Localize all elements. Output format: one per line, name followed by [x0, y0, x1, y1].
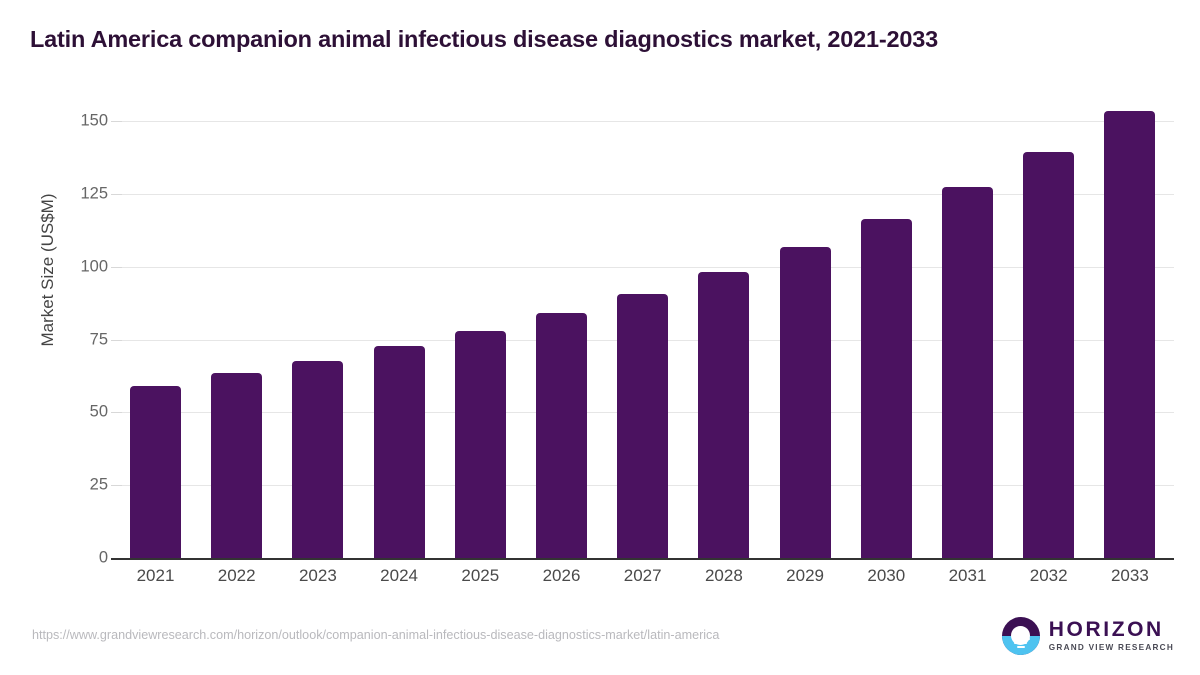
logo-ray-1: [1012, 638, 1030, 640]
bar-2025[interactable]: [455, 331, 506, 558]
x-tick-label-2031: 2031: [949, 566, 987, 586]
bar-2027[interactable]: [617, 294, 668, 558]
bar-2024[interactable]: [374, 346, 425, 558]
bar-2022[interactable]: [211, 373, 262, 558]
x-tick-label-2021: 2021: [137, 566, 175, 586]
x-tick-label-2028: 2028: [705, 566, 743, 586]
bar-2028[interactable]: [698, 272, 749, 558]
x-tick-label-2022: 2022: [218, 566, 256, 586]
logo-subtitle: GRAND VIEW RESEARCH: [1049, 644, 1174, 652]
horizon-sun-icon: [1002, 617, 1040, 655]
bar-2026[interactable]: [536, 313, 587, 558]
chart-card: Latin America companion animal infectiou…: [0, 0, 1200, 675]
x-tick-label-2032: 2032: [1030, 566, 1068, 586]
bar-series: [0, 0, 1200, 675]
logo-wordmark: HORIZON: [1049, 619, 1174, 640]
x-tick-label-2023: 2023: [299, 566, 337, 586]
horizon-logo: HORIZON GRAND VIEW RESEARCH: [1002, 617, 1174, 655]
source-url[interactable]: https://www.grandviewresearch.com/horizo…: [32, 628, 719, 642]
bar-2021[interactable]: [130, 386, 181, 558]
bar-2029[interactable]: [780, 247, 831, 558]
logo-ray-2: [1014, 642, 1027, 644]
bar-2031[interactable]: [942, 187, 993, 558]
bar-2032[interactable]: [1023, 152, 1074, 558]
x-tick-label-2027: 2027: [624, 566, 662, 586]
bar-2030[interactable]: [861, 219, 912, 558]
plot-area: Market Size (US$M) 0255075100125150 2021…: [0, 0, 1200, 675]
logo-ray-3: [1017, 646, 1025, 648]
x-tick-label-2026: 2026: [543, 566, 581, 586]
x-tick-label-2025: 2025: [461, 566, 499, 586]
x-tick-label-2030: 2030: [867, 566, 905, 586]
bar-2023[interactable]: [292, 361, 343, 558]
x-tick-label-2029: 2029: [786, 566, 824, 586]
bar-2033[interactable]: [1104, 111, 1155, 558]
x-tick-label-2024: 2024: [380, 566, 418, 586]
x-tick-label-2033: 2033: [1111, 566, 1149, 586]
logo-text: HORIZON GRAND VIEW RESEARCH: [1049, 619, 1174, 652]
